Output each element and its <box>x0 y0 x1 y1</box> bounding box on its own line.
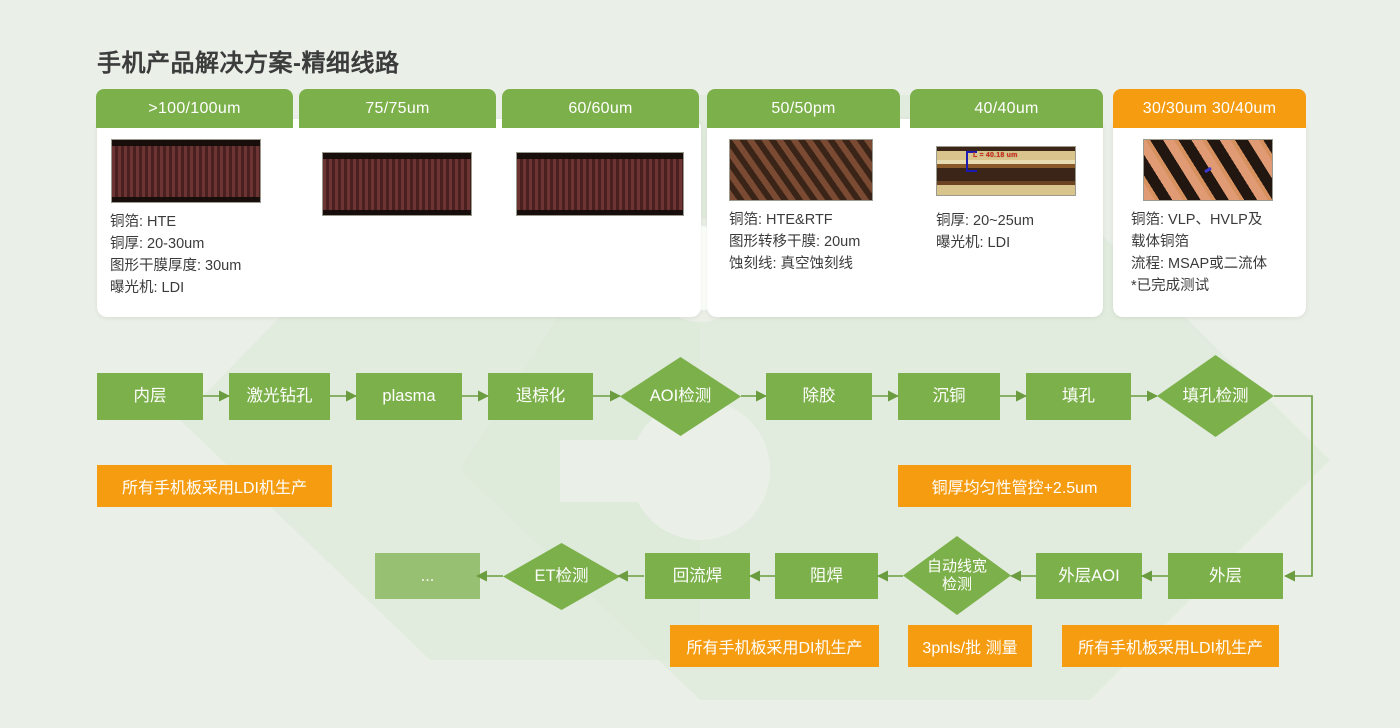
spec-card-header-50: 50/50pm <box>707 89 900 128</box>
tag-label: 铜厚均匀性管控+2.5um <box>932 474 1098 498</box>
spec-card-30[interactable]: 30/30um 30/40um 铜箔: VLP、HVLP及 载体铜箔 流程: M… <box>1113 89 1306 297</box>
spec-details-100: 铜箔: HTE 铜厚: 20-30um 图形干膜厚度: 30um 曝光机: LD… <box>110 211 293 299</box>
tag-label: 所有手机板采用DI机生产 <box>686 634 862 658</box>
tag-ldi-all-boards-bottom[interactable]: 所有手机板采用LDI机生产 <box>1062 625 1279 667</box>
spec-details-30: 铜箔: VLP、HVLP及 载体铜箔 流程: MSAP或二流体 *已完成测试 <box>1131 209 1306 297</box>
spec-card-50[interactable]: 50/50pm 铜箔: HTE&RTF 图形转移干膜: 20um 蚀刻线: 真空… <box>707 89 900 275</box>
spec-card-40[interactable]: 40/40um L = 40.18 um 铜厚: 20~25um 曝光机: LD… <box>910 89 1103 254</box>
defect-marker-icon <box>1204 167 1212 173</box>
spec-card-75[interactable]: 75/75um <box>299 89 496 216</box>
tag-label: 所有手机板采用LDI机生产 <box>122 474 307 498</box>
spec-card-60[interactable]: 60/60um <box>502 89 699 216</box>
tag-ldi-all-boards-top[interactable]: 所有手机板采用LDI机生产 <box>97 465 332 507</box>
page-title: 手机产品解决方案-精细线路 <box>97 43 400 78</box>
tag-copper-uniformity[interactable]: 铜厚均匀性管控+2.5um <box>898 465 1131 507</box>
spec-card-header-100: >100/100um <box>96 89 293 128</box>
spec-details-50: 铜箔: HTE&RTF 图形转移干膜: 20um 蚀刻线: 真空蚀刻线 <box>729 209 900 275</box>
spec-card-header-60: 60/60um <box>502 89 699 128</box>
spec-card-header-40: 40/40um <box>910 89 1103 128</box>
tag-measure-3pnls[interactable]: 3pnls/批 测量 <box>908 625 1032 667</box>
micrograph-measure-label: L = 40.18 um <box>973 152 1018 159</box>
tag-label: 所有手机板采用LDI机生产 <box>1078 634 1263 658</box>
micrograph-30 <box>1143 139 1273 201</box>
tag-di-all-boards[interactable]: 所有手机板采用DI机生产 <box>670 625 879 667</box>
spec-card-header-75: 75/75um <box>299 89 496 128</box>
spec-card-100[interactable]: >100/100um 铜箔: HTE 铜厚: 20-30um 图形干膜厚度: 3… <box>96 89 293 299</box>
spec-details-40: 铜厚: 20~25um 曝光机: LDI <box>936 210 1103 254</box>
micrograph-60 <box>516 152 684 216</box>
micrograph-40: L = 40.18 um <box>936 146 1076 196</box>
micrograph-75 <box>322 152 472 216</box>
micrograph-50 <box>729 139 873 201</box>
micrograph-100 <box>111 139 261 203</box>
tag-label: 3pnls/批 测量 <box>922 634 1017 658</box>
spec-card-header-30: 30/30um 30/40um <box>1113 89 1306 128</box>
